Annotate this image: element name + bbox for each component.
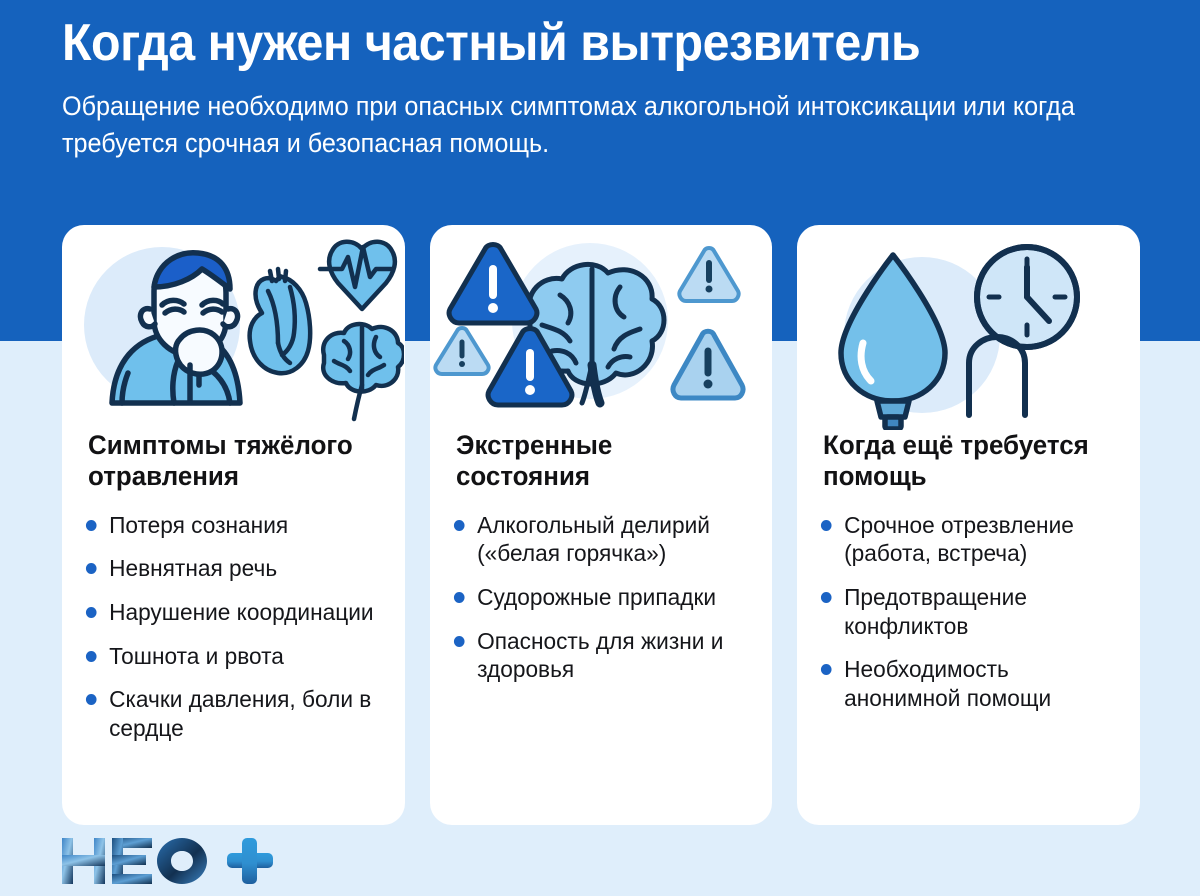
warning-triangle-icon: [435, 328, 488, 374]
logo-letter-e: [112, 838, 152, 884]
card-1-bullets: Потеря сознания Невнятная речь Нарушение…: [84, 511, 385, 743]
warning-triangle-icon: [449, 245, 537, 324]
list-item: Невнятная речь: [84, 554, 374, 583]
warning-triangle-icon: [673, 331, 743, 398]
card-emergency-states: Экстренные состояния Алкогольный делирий…: [430, 225, 773, 825]
list-item: Скачки давления, боли в сердце: [84, 685, 374, 742]
card-3-bullets: Срочное отрезвление (работа, встреча) Пр…: [819, 511, 1120, 713]
card-2-bullets: Алкогольный делирий («белая горячка») Су…: [452, 511, 753, 684]
page-title: Когда нужен частный вытрезвитель: [62, 16, 1076, 71]
list-item: Предотвращение конфликтов: [819, 583, 1109, 640]
warning-triangle-icon: [679, 248, 738, 301]
list-item: Судорожные припадки: [452, 583, 742, 612]
list-item: Необходимость анонимной помощи: [819, 655, 1109, 712]
cards-row: Симптомы тяжёлого отравления Потеря созн…: [62, 225, 1140, 825]
list-item: Потеря сознания: [84, 511, 374, 540]
neo-plus-logo: [60, 836, 290, 884]
card-1-title: Симптомы тяжёлого отравления: [88, 430, 367, 493]
card-2-illustration: [430, 225, 773, 430]
brain-icon: [323, 324, 404, 419]
logo-letter-o: [157, 838, 207, 884]
card-2-title: Экстренные состояния: [456, 430, 735, 493]
card-3-illustration: [797, 225, 1140, 430]
infographic-page: Когда нужен частный вытрезвитель Обращен…: [0, 0, 1200, 896]
list-item: Нарушение координации: [84, 598, 374, 627]
list-item: Опасность для жизни и здоровья: [452, 627, 742, 684]
clock-icon: [977, 247, 1077, 347]
header-content: Когда нужен частный вытрезвитель Обращен…: [62, 16, 1152, 161]
list-item: Алкогольный делирий («белая горячка»): [452, 511, 742, 568]
card-severe-poisoning: Симптомы тяжёлого отравления Потеря созн…: [62, 225, 405, 825]
card-when-else-help: Когда ещё требуется помощь Срочное отрез…: [797, 225, 1140, 825]
logo-letter-n: [62, 838, 105, 884]
heart-pulse-icon: [320, 242, 395, 309]
logo-plus-icon: [227, 838, 273, 884]
card-3-title: Когда ещё требуется помощь: [823, 430, 1102, 493]
page-subtitle: Обращение необходимо при опасных симптом…: [62, 88, 1098, 161]
list-item: Тошнота и рвота: [84, 642, 374, 671]
card-1-illustration: [62, 225, 405, 430]
list-item: Срочное отрезвление (работа, встреча): [819, 511, 1109, 568]
anatomical-heart-icon: [250, 269, 311, 373]
